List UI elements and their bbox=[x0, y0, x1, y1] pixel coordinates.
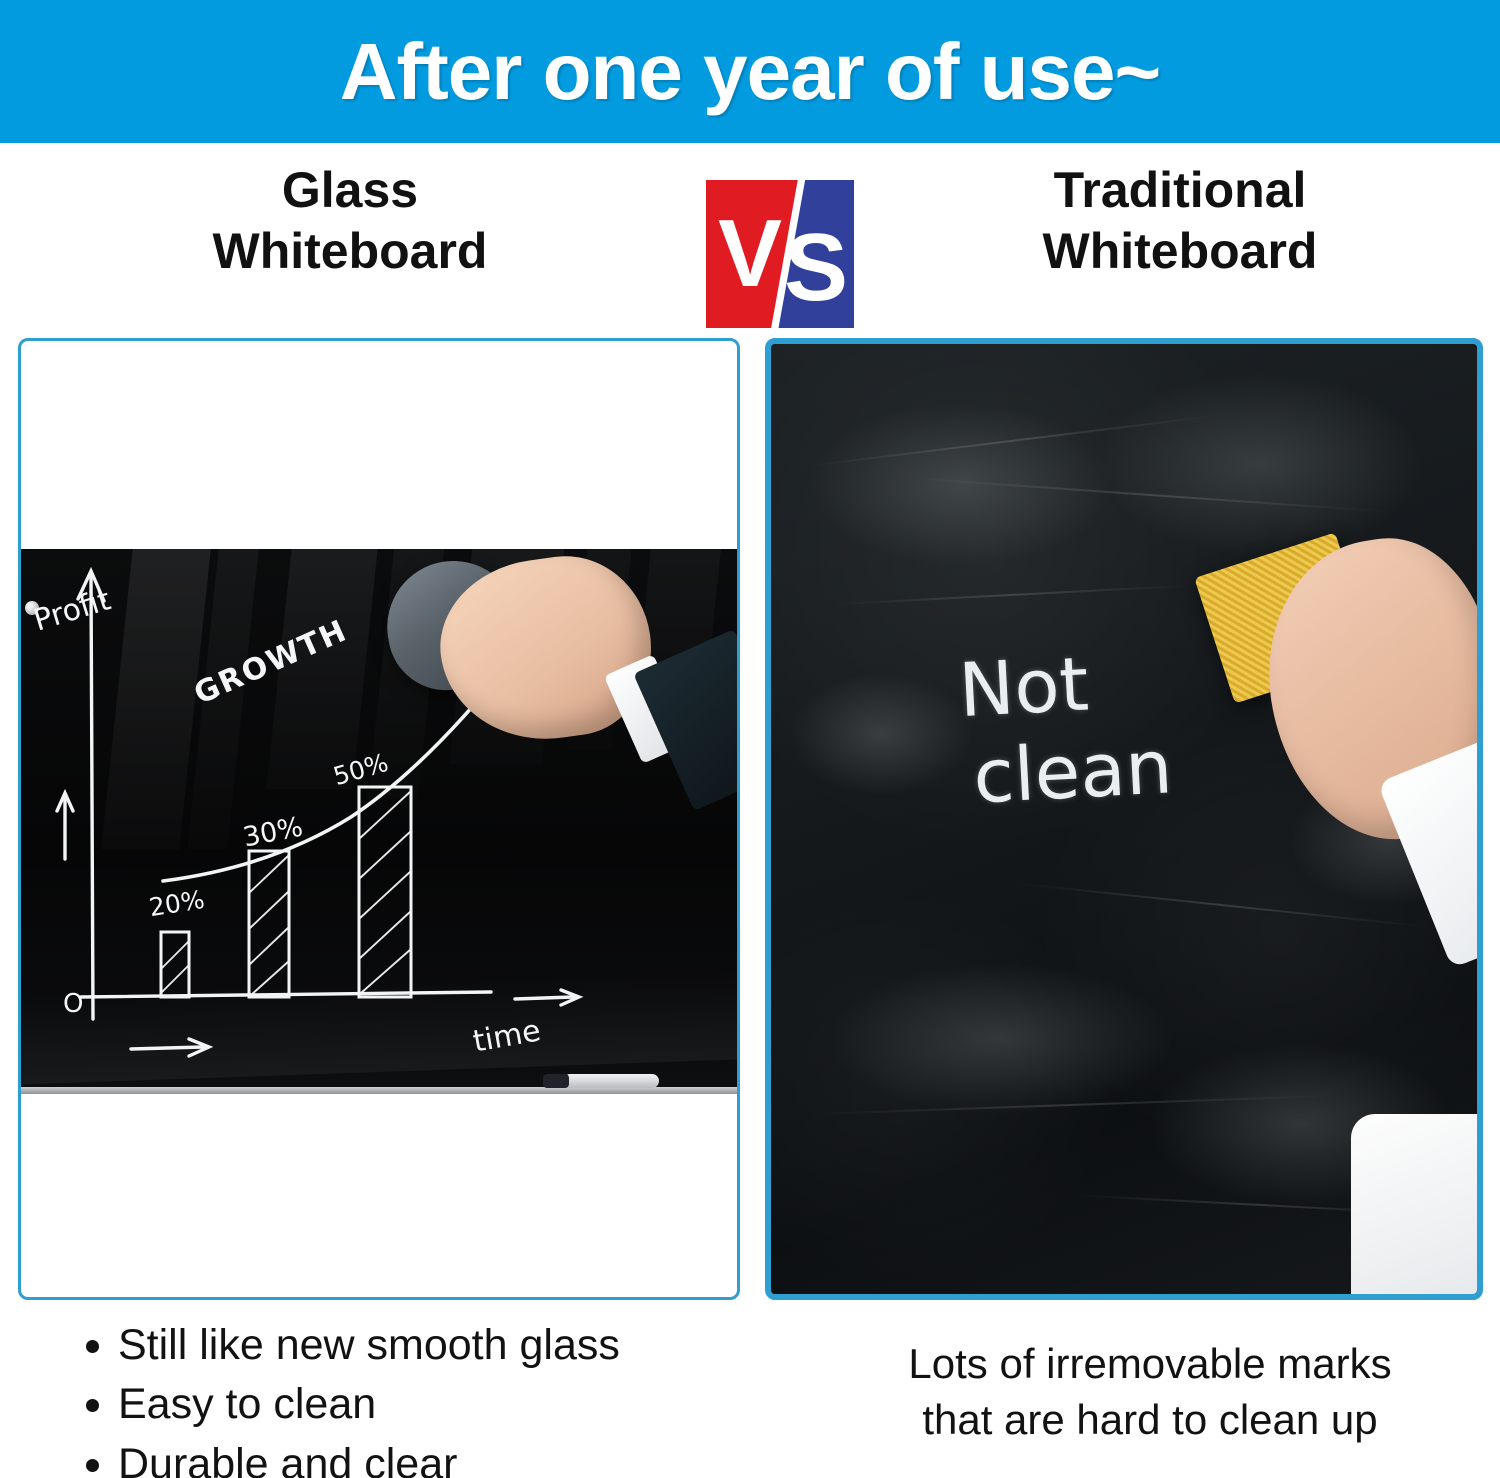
chalk-smear bbox=[1101, 374, 1421, 554]
marker-tray bbox=[21, 1087, 737, 1094]
drawback-line1: Lots of irremovable marks bbox=[830, 1336, 1470, 1392]
board-scratch bbox=[831, 585, 1191, 606]
marker-cap-icon bbox=[543, 1074, 569, 1088]
vs-letter-s: S bbox=[784, 220, 848, 316]
banner-title: After one year of use~ bbox=[340, 32, 1161, 112]
heading-traditional-line2: Whiteboard bbox=[880, 221, 1480, 282]
marker-pen-icon bbox=[563, 1074, 659, 1088]
header-banner: After one year of use~ bbox=[0, 0, 1500, 143]
heading-glass-line2: Whiteboard bbox=[20, 221, 680, 282]
heading-traditional-line1: Traditional bbox=[880, 160, 1480, 221]
infographic-page: After one year of use~ Glass Whiteboard … bbox=[0, 0, 1500, 1478]
chalk-smear bbox=[831, 964, 1171, 1114]
list-item: Easy to clean bbox=[118, 1375, 750, 1434]
dirty-chalkboard-photo: Not clean bbox=[771, 344, 1477, 1294]
vs-badge-icon: V S bbox=[706, 180, 854, 328]
list-item: Durable and clear bbox=[118, 1435, 750, 1478]
chart-origin-label: O bbox=[63, 989, 83, 1019]
vs-letter-v: V bbox=[718, 206, 782, 302]
chalk-text-line2: clean bbox=[971, 717, 1315, 822]
benefits-list: Still like new smooth glass Easy to clea… bbox=[70, 1316, 750, 1478]
heading-glass-whiteboard: Glass Whiteboard bbox=[20, 160, 680, 282]
chalk-smear bbox=[811, 404, 1111, 564]
chalk-text-line1: Not bbox=[957, 641, 1091, 734]
list-item: Still like new smooth glass bbox=[118, 1316, 750, 1375]
traditional-whiteboard-drawback: Lots of irremovable marks that are hard … bbox=[830, 1336, 1470, 1449]
panel-traditional-whiteboard: Not clean bbox=[765, 338, 1483, 1300]
heading-glass-line1: Glass bbox=[20, 160, 680, 221]
panel-glass-whiteboard: Profit GROWTH 20% 30% 50% 75% time O bbox=[18, 338, 740, 1300]
chalk-smear bbox=[791, 674, 971, 794]
drawback-line2: that are hard to clean up bbox=[830, 1392, 1470, 1448]
glass-whiteboard-benefits: Still like new smooth glass Easy to clea… bbox=[70, 1316, 750, 1478]
glass-whiteboard-photo: Profit GROWTH 20% 30% 50% 75% time O bbox=[21, 549, 737, 1094]
white-shirt-body bbox=[1351, 1114, 1477, 1294]
heading-traditional-whiteboard: Traditional Whiteboard bbox=[880, 160, 1480, 282]
